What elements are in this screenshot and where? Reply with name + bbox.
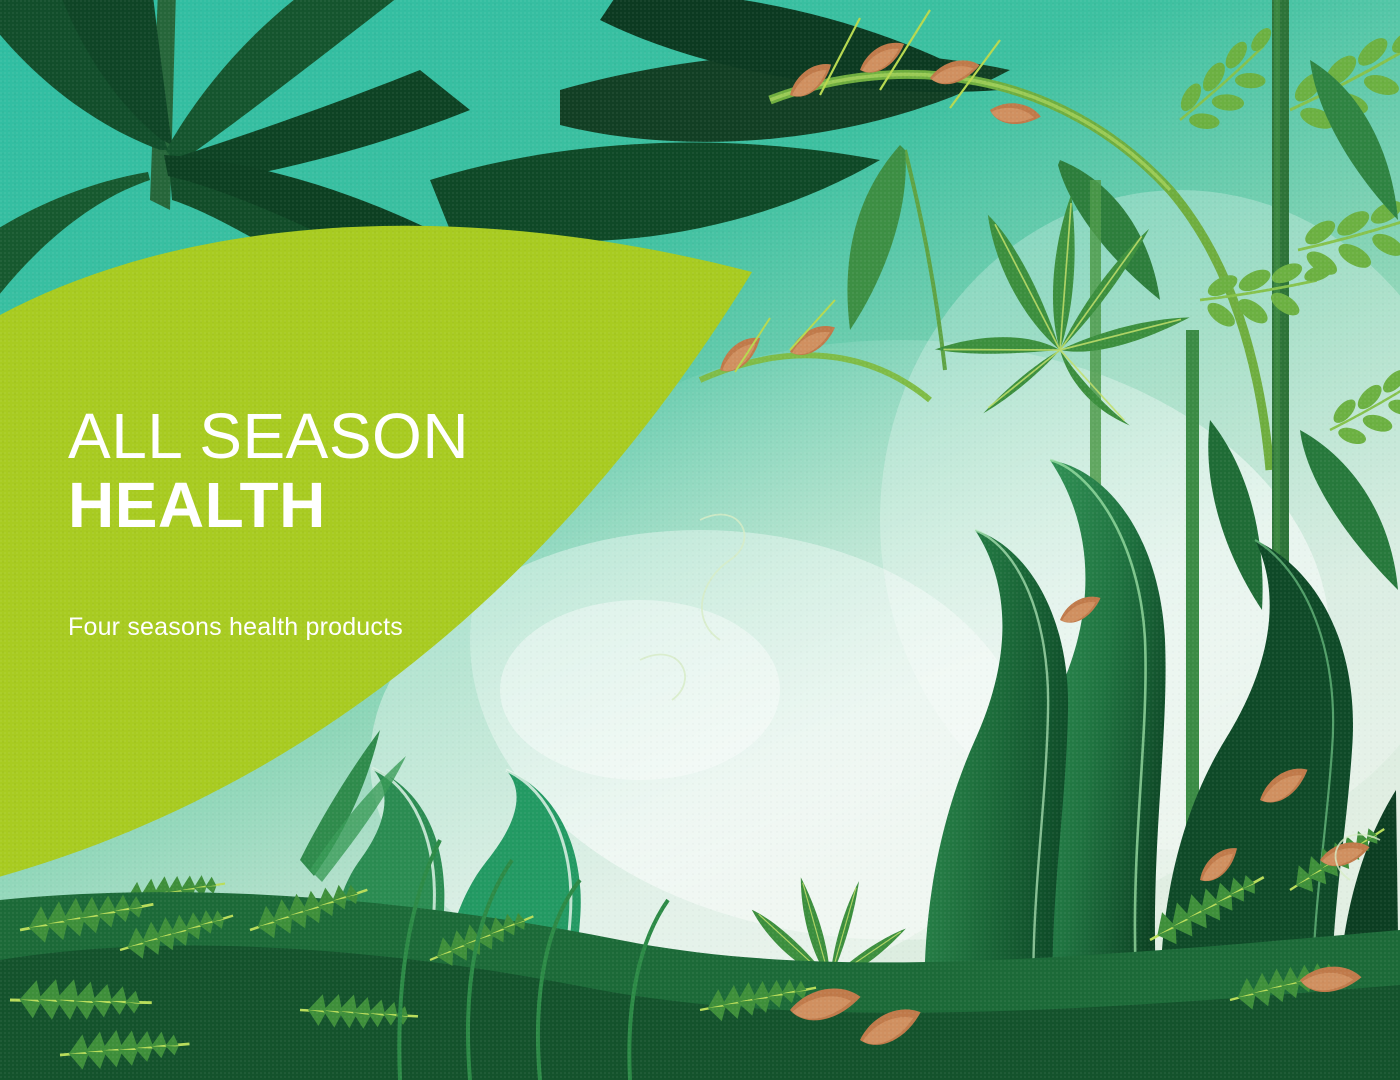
promo-banner: ALL SEASON HEALTH Four seasons health pr…: [0, 0, 1400, 1080]
headline-line-2: HEALTH: [68, 473, 628, 538]
subtitle: Four seasons health products: [68, 539, 628, 642]
headline-line-1: ALL SEASON: [68, 404, 628, 469]
headline-block: ALL SEASON HEALTH Four seasons health pr…: [68, 404, 628, 642]
page-title: ALL SEASON HEALTH: [68, 404, 628, 539]
